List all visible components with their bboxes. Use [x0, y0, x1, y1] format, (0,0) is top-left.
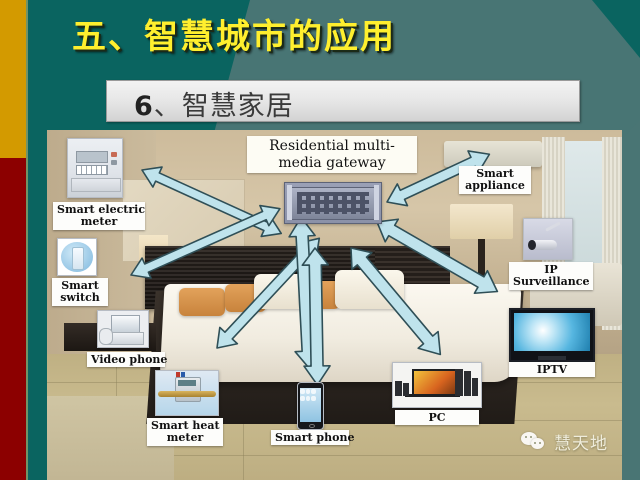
- label-smart-appliance: Smart appliance: [459, 166, 531, 194]
- television-icon: [509, 308, 595, 362]
- subtitle: 6、智慧家居: [134, 84, 294, 123]
- label-video-phone: Video phone: [87, 352, 165, 367]
- label-line1: Video phone: [91, 354, 161, 366]
- floor-lamp-shade: [450, 204, 513, 239]
- subtitle-number: 6: [134, 91, 154, 122]
- gateway-device-icon: [284, 182, 382, 224]
- label-line2: switch: [56, 292, 104, 304]
- label-smart-switch: Smart switch: [52, 278, 108, 306]
- smartphone-icon: [297, 382, 324, 430]
- label-line2: meter: [151, 432, 219, 444]
- air-conditioner-unit: [444, 141, 542, 167]
- label-smart-heat-meter: Smart heat meter: [147, 418, 223, 446]
- subtitle-text: 、智慧家居: [154, 91, 294, 122]
- slide-root: 五、智慧城市的应用 6、智慧家居: [0, 0, 640, 480]
- video-phone-icon: [97, 310, 149, 348]
- label-pc: PC: [395, 410, 479, 425]
- page-title: 五、智慧城市的应用: [72, 18, 396, 57]
- heat-meter-icon: [155, 370, 219, 416]
- watermark: 慧天地: [521, 429, 608, 454]
- label-line1: IPTV: [513, 364, 591, 376]
- label-line1: Smart phone: [275, 432, 345, 444]
- light-switch-icon: [57, 238, 97, 276]
- desktop-computer-icon: [392, 362, 482, 408]
- label-smart-electric-meter: Smart electric meter: [53, 202, 145, 230]
- label-iptv: IPTV: [509, 362, 595, 377]
- left-accent-bar-gold: [0, 0, 26, 158]
- label-ip-surveillance: IP Surveillance: [509, 262, 593, 290]
- smart-home-diagram-image: Residential multi- media gateway Smart e…: [47, 130, 622, 480]
- security-camera-icon: [523, 218, 573, 260]
- label-line1: PC: [399, 412, 475, 424]
- gateway-label-line1: Residential multi-: [253, 138, 411, 155]
- left-accent-bar-red: [0, 158, 26, 480]
- gateway-label-line2: media gateway: [253, 155, 411, 172]
- watermark-text: 慧天地: [554, 429, 608, 454]
- wechat-icon: [521, 432, 547, 451]
- gateway-label: Residential multi- media gateway: [247, 136, 417, 173]
- label-line2: Surveillance: [513, 276, 589, 288]
- label-line2: meter: [57, 216, 141, 228]
- label-line2: appliance: [463, 180, 527, 192]
- electric-meter-icon: [67, 138, 123, 198]
- left-accent-divider: [26, 0, 28, 480]
- label-smart-phone: Smart phone: [271, 430, 349, 445]
